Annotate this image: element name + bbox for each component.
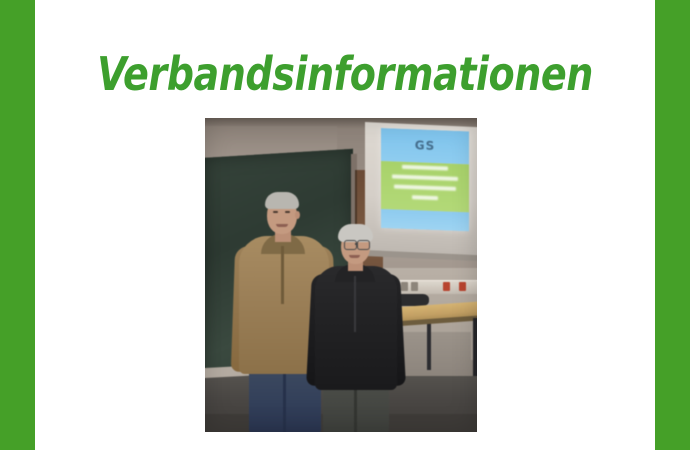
person-right-mouth <box>349 255 360 258</box>
person-right-jacket <box>315 266 397 390</box>
projected-text-line <box>412 195 438 200</box>
page-title: Verbandsinformationen <box>60 50 630 98</box>
table-leg <box>427 318 431 370</box>
gs-logo: GS <box>411 139 439 152</box>
power-socket-red <box>459 282 466 291</box>
projected-slide-text-lines <box>387 164 463 207</box>
person-left-hair <box>265 192 299 209</box>
person-right-glasses-bridge <box>355 243 358 245</box>
projected-text-line <box>394 184 456 190</box>
presentation-slide: Verbandsinformationen GS <box>0 0 690 450</box>
person-left-mouth <box>276 224 288 227</box>
person-left-zipper <box>281 246 284 304</box>
person-left-ear <box>295 211 300 219</box>
green-right-bar <box>655 0 690 450</box>
green-left-bar <box>0 0 35 450</box>
table-leg <box>473 318 477 384</box>
power-socket-red <box>443 282 450 291</box>
person-right-trouser-seam <box>354 390 357 432</box>
projected-slide: GS <box>381 128 469 231</box>
projected-text-line <box>402 165 448 171</box>
projected-slide-bottom-band <box>381 209 469 231</box>
person-left-eye <box>273 211 278 213</box>
person-right-glasses-right-lens <box>357 240 370 250</box>
power-socket <box>411 282 418 291</box>
person-right-zipper <box>354 276 356 332</box>
projected-text-line <box>392 174 458 181</box>
person-left-trouser-seam <box>283 374 286 432</box>
person-left-eye <box>285 211 290 213</box>
person-right-glasses-left-lens <box>344 240 357 250</box>
photo-two-presenters: GS <box>205 118 477 432</box>
power-socket <box>401 282 408 291</box>
